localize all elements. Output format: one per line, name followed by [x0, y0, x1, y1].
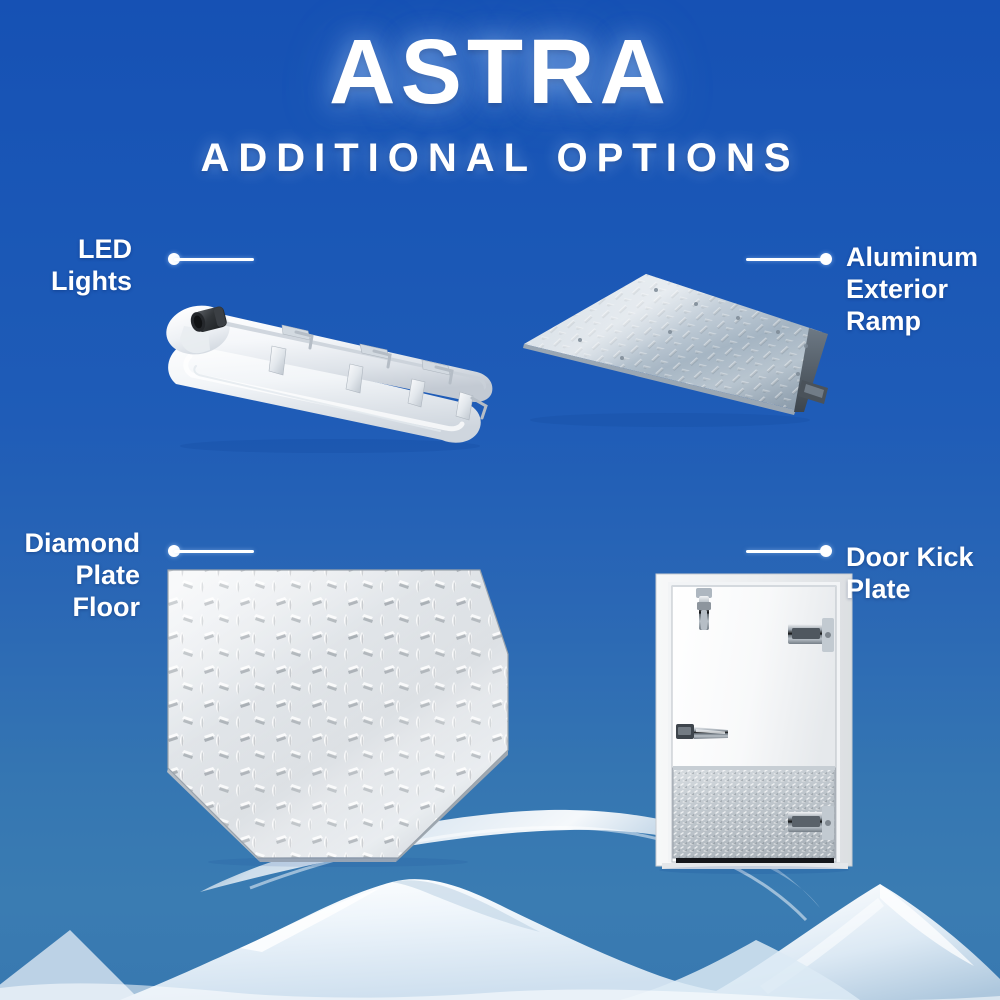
label-diamond-plate-floor: Diamond Plate Floor: [0, 528, 140, 624]
page-subtitle: ADDITIONAL OPTIONS: [0, 136, 1000, 181]
connector-door-kick-plate: [746, 545, 832, 557]
connector-dot-icon: [820, 253, 832, 265]
connector-line: [174, 550, 254, 553]
connector-diamond-plate-floor: [168, 545, 254, 557]
connector-dot-icon: [820, 545, 832, 557]
poster-canvas: ASTRA ADDITIONAL OPTIONS LED Lights: [0, 0, 1000, 1000]
label-led-lights: LED Lights: [0, 234, 132, 298]
connector-led-lights: [168, 253, 254, 265]
label-door-kick-plate: Door Kick Plate: [846, 542, 1000, 606]
connector-aluminum-ramp: [746, 253, 832, 265]
product-image-diamond-plate-floor: [162, 562, 514, 862]
connector-line: [746, 550, 826, 553]
title-block: ASTRA ADDITIONAL OPTIONS: [0, 26, 1000, 181]
product-image-aluminum-ramp: [510, 262, 850, 427]
connector-line: [746, 258, 826, 261]
page-title: ASTRA: [0, 26, 1000, 118]
label-aluminum-exterior-ramp: Aluminum Exterior Ramp: [846, 242, 1000, 338]
product-image-led-lights: [150, 268, 530, 453]
connector-line: [174, 258, 254, 261]
product-image-door-kick-plate: [652, 572, 857, 872]
